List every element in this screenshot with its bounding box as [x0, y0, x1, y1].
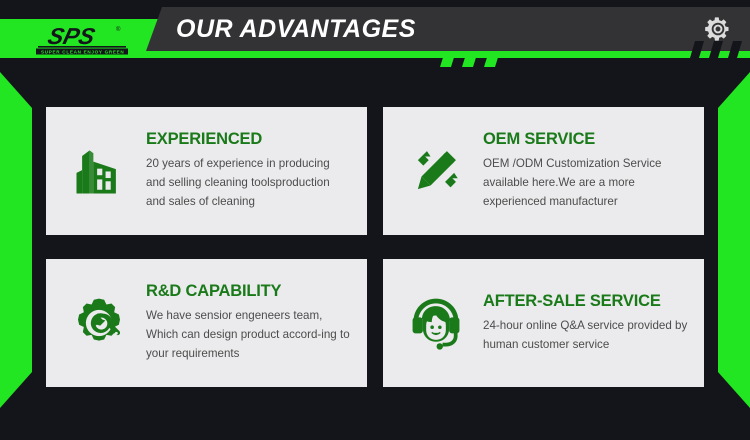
settings-button[interactable]	[704, 15, 732, 43]
trademark-mark: ®	[116, 26, 121, 33]
card-text: AFTER-SALE SERVICE 24-hour online Q&A se…	[475, 292, 692, 355]
advantage-card-after-sale-service[interactable]: AFTER-SALE SERVICE 24-hour online Q&A se…	[383, 259, 704, 387]
card-text: OEM SERVICE OEM /ODM Customization Servi…	[475, 130, 692, 211]
card-title: AFTER-SALE SERVICE	[483, 292, 688, 310]
card-title: OEM SERVICE	[483, 130, 688, 148]
decor-right-green-bar	[718, 72, 750, 440]
decor-left-green-bar	[0, 72, 32, 440]
card-description: OEM /ODM Customization Service available…	[483, 155, 688, 211]
brand-logo[interactable]: SPS ® SUPER CLEAN ENJOY GREEN	[30, 22, 140, 56]
advantage-card-oem-service[interactable]: OEM SERVICE OEM /ODM Customization Servi…	[383, 107, 704, 235]
card-text: EXPERIENCED 20 years of experience in pr…	[138, 130, 355, 211]
card-icon-slot	[60, 284, 138, 362]
gear-wrench-icon	[69, 293, 129, 353]
sps-logo-icon: SPS ® SUPER CLEAN ENJOY GREEN	[30, 22, 140, 56]
card-title: R&D CAPABILITY	[146, 282, 351, 300]
card-description: 20 years of experience in producing and …	[146, 155, 351, 211]
advantage-card-rd-capability[interactable]: R&D CAPABILITY We have sensior engeneers…	[46, 259, 367, 387]
header-title-bar: OUR ADVANTAGES	[146, 7, 750, 51]
card-description: We have sensior engeneers team, Which ca…	[146, 307, 351, 363]
advantages-grid: EXPERIENCED 20 years of experience in pr…	[46, 107, 704, 387]
card-text: R&D CAPABILITY We have sensior engeneers…	[138, 282, 355, 363]
headset-support-icon	[406, 293, 466, 353]
page-title: OUR ADVANTAGES	[176, 15, 416, 44]
card-icon-slot	[397, 132, 475, 210]
advantage-card-experienced[interactable]: EXPERIENCED 20 years of experience in pr…	[46, 107, 367, 235]
svg-text:SPS: SPS	[45, 23, 98, 49]
gear-icon	[704, 15, 732, 43]
card-icon-slot	[60, 132, 138, 210]
card-icon-slot	[397, 284, 475, 362]
building-icon	[69, 141, 129, 201]
pencil-wrench-icon	[407, 142, 465, 200]
logo-tagline: SUPER CLEAN ENJOY GREEN	[41, 49, 124, 54]
card-description: 24-hour online Q&A service provided by h…	[483, 317, 688, 355]
page-header: SPS ® SUPER CLEAN ENJOY GREEN OUR ADVANT…	[0, 0, 750, 72]
card-title: EXPERIENCED	[146, 130, 351, 148]
